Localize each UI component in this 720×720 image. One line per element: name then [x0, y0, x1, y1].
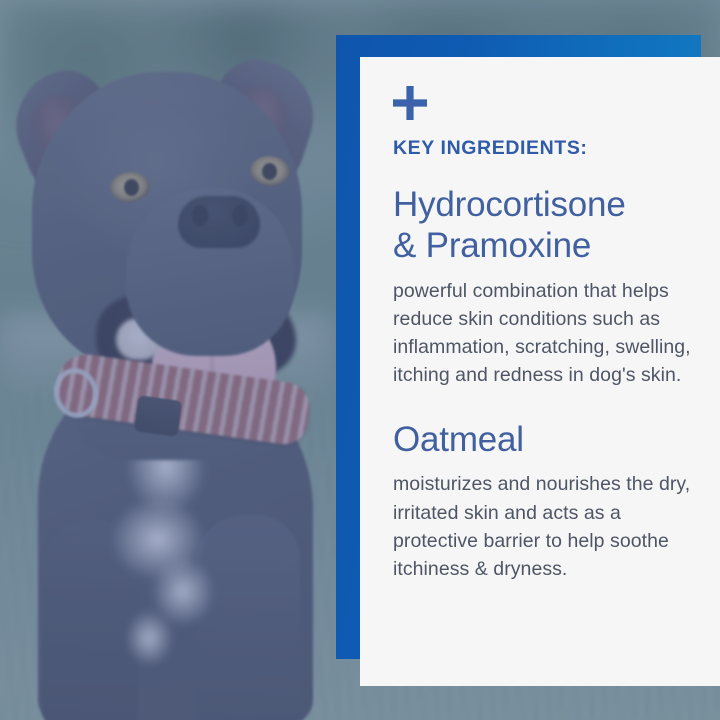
ingredients-card: KEY INGREDIENTS: Hydrocortisone& Pramoxi… — [360, 57, 720, 686]
plus-icon — [393, 86, 427, 120]
promo-graphic: KEY INGREDIENTS: Hydrocortisone& Pramoxi… — [0, 0, 720, 720]
kicker-label: KEY INGREDIENTS: — [393, 138, 702, 159]
section-spacer — [393, 390, 702, 420]
ingredient-title-1-line2: & Pramoxine — [393, 226, 591, 265]
ingredient-title-1-line1: Hydrocortisone — [393, 185, 626, 224]
ingredient-title-1: Hydrocortisone& Pramoxine — [393, 185, 702, 266]
ingredient-description-2: moisturizes and nourishes the dry, irrit… — [393, 470, 702, 583]
ingredient-title-2: Oatmeal — [393, 420, 702, 461]
card-content: KEY INGREDIENTS: Hydrocortisone& Pramoxi… — [393, 86, 702, 583]
ingredient-description-1: powerful combination that helps reduce s… — [393, 277, 702, 390]
